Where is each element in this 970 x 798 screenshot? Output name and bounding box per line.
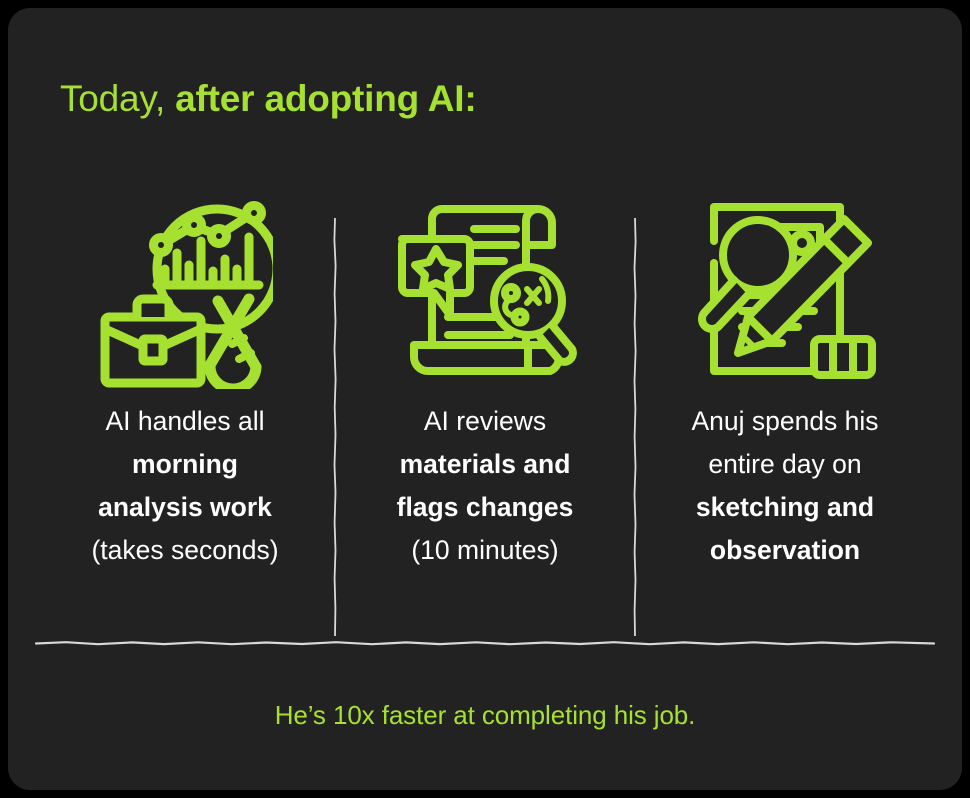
caption-line-2: materials and	[400, 449, 571, 479]
column-human-sketching: Anuj spends his entire day on sketching …	[636, 186, 934, 644]
caption-line-2: morning	[132, 449, 238, 479]
caption-line-4: (takes seconds)	[91, 535, 278, 565]
column-ai-review: AI reviews materials and flags changes (…	[336, 186, 634, 644]
column-ai-analysis: AI handles all morning analysis work (ta…	[36, 186, 334, 644]
caption-line-4: observation	[710, 535, 860, 565]
caption-column-3: Anuj spends his entire day on sketching …	[683, 400, 886, 572]
footer-note: He’s 10x faster at completing his job.	[8, 700, 962, 731]
caption-line-4: (10 minutes)	[411, 535, 558, 565]
headline-light-text: Today,	[60, 78, 165, 119]
caption-line-3: sketching and	[696, 492, 874, 522]
magnifier-chart-briefcase-icon	[97, 186, 273, 396]
caption-line-3: analysis work	[98, 492, 272, 522]
caption-column-1: AI handles all morning analysis work (ta…	[83, 400, 286, 572]
caption-line-3: flags changes	[397, 492, 574, 522]
caption-line-1: AI reviews	[424, 406, 546, 436]
document-review-magnifier-icon	[392, 186, 578, 396]
caption-line-1: AI handles all	[105, 406, 264, 436]
columns-container: AI handles all morning analysis work (ta…	[36, 186, 934, 644]
caption-column-2: AI reviews materials and flags changes (…	[389, 400, 582, 572]
sketch-pencil-magnifier-icon	[690, 186, 880, 396]
headline-strong-text: after adopting AI:	[175, 78, 476, 119]
caption-line-1: Anuj spends his	[691, 406, 878, 436]
caption-line-2: entire day on	[708, 449, 861, 479]
page-title: Today, after adopting AI:	[60, 76, 476, 122]
bottom-divider	[36, 638, 934, 648]
infographic-card: Today, after adopting AI:	[8, 8, 962, 790]
